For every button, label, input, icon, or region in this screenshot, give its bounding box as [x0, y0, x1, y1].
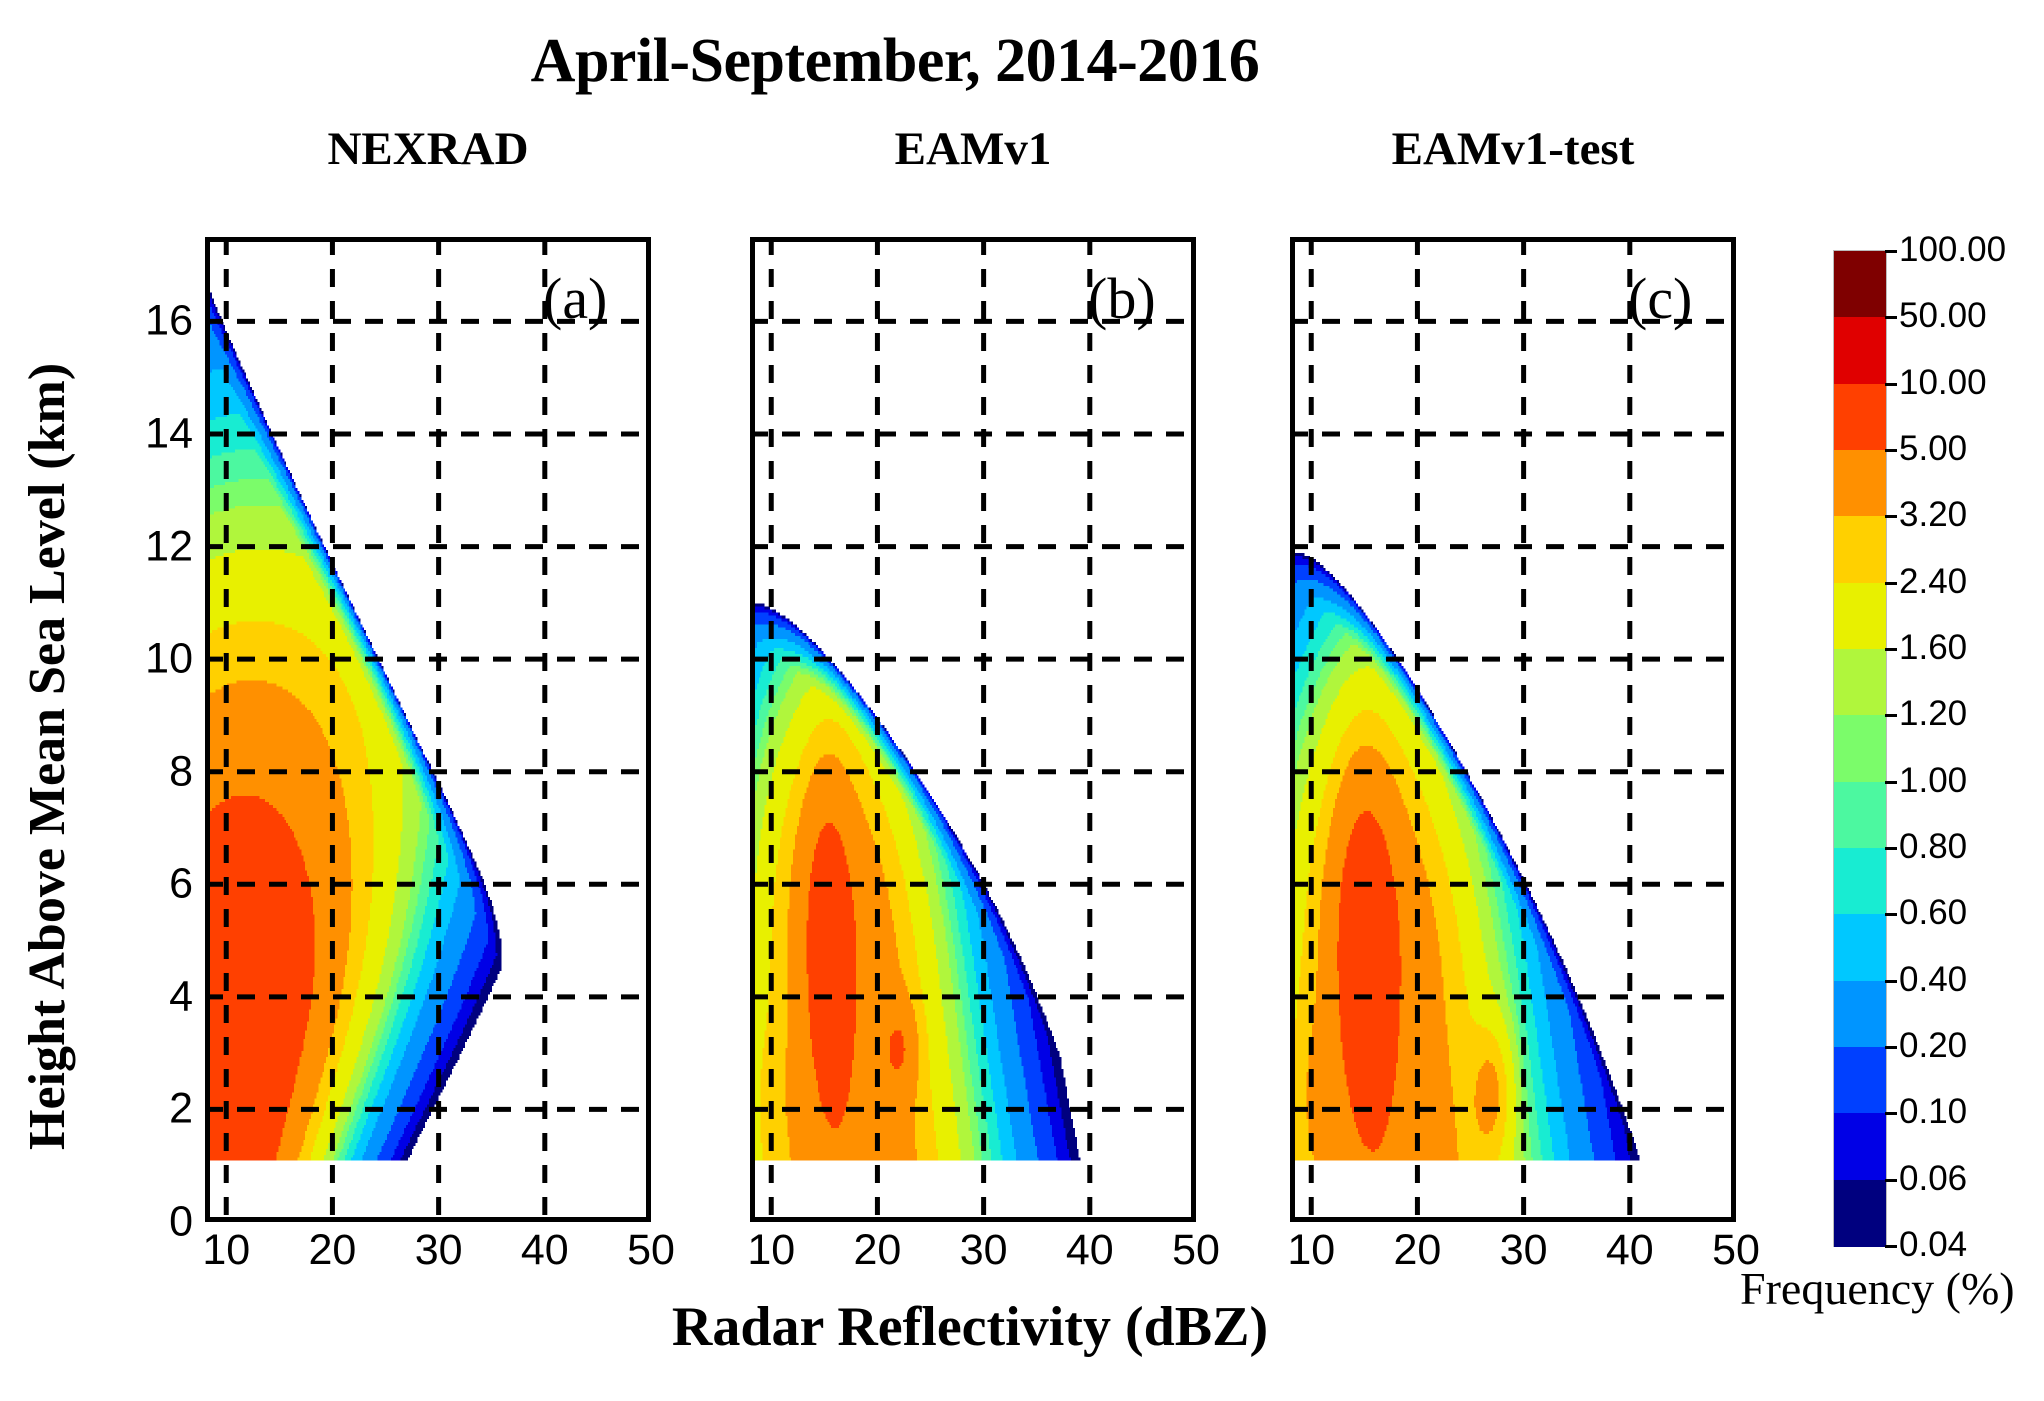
colorbar-segment	[1834, 715, 1886, 782]
colorbar-tick	[1885, 1046, 1897, 1049]
colorbar-tick-label: 0.06	[1899, 1159, 1967, 1199]
colorbar-segment	[1834, 583, 1886, 650]
colorbar-tick-label: 0.20	[1899, 1026, 1967, 1066]
colorbar-segment	[1834, 649, 1886, 716]
x-tick-label: 10	[747, 1226, 795, 1275]
colorbar-tick	[1885, 316, 1897, 319]
panel-id-1: (a)	[543, 265, 607, 332]
colorbar-tick-label: 0.40	[1899, 960, 1967, 1000]
x-tick-label: 20	[1394, 1226, 1442, 1275]
colorbar-tick	[1885, 582, 1897, 585]
colorbar-segment	[1834, 782, 1886, 849]
x-tick-label: 10	[202, 1226, 250, 1275]
colorbar-tick	[1885, 1112, 1897, 1115]
colorbar-tick-label: 100.00	[1899, 230, 2006, 270]
colorbar-tick-label: 3.20	[1899, 495, 1967, 535]
x-tick-label: 30	[960, 1226, 1008, 1275]
y-tick-label: 6	[103, 860, 193, 909]
colorbar-tick-label: 1.60	[1899, 628, 1967, 668]
colorbar-tick-label: 5.00	[1899, 429, 1967, 469]
x-tick-label: 50	[1172, 1226, 1220, 1275]
colorbar-tick	[1885, 250, 1897, 253]
y-tick-label: 16	[103, 297, 193, 346]
colorbar-gradient	[1833, 250, 1887, 1247]
panel-id-2: (b)	[1088, 265, 1156, 332]
y-tick-label: 2	[103, 1085, 193, 1134]
figure-title: April-September, 2014-2016	[0, 26, 1790, 97]
y-axis-label: Height Above Mean Sea Level (km)	[18, 363, 77, 1150]
y-tick-label: 0	[103, 1198, 193, 1247]
colorbar-segment	[1834, 251, 1886, 318]
colorbar-tick	[1885, 648, 1897, 651]
y-tick-label: 4	[103, 972, 193, 1021]
colorbar-tick	[1885, 449, 1897, 452]
colorbar-tick	[1885, 1245, 1897, 1248]
x-tick-label: 40	[1066, 1226, 1114, 1275]
colorbar-tick-label: 0.10	[1899, 1092, 1967, 1132]
colorbar-tick-label: 2.40	[1899, 562, 1967, 602]
colorbar-segment	[1834, 317, 1886, 384]
colorbar-tick-label: 1.00	[1899, 761, 1967, 801]
colorbar-segment	[1834, 384, 1886, 451]
colorbar-segment	[1834, 1047, 1886, 1114]
contour-plot-1	[210, 242, 646, 1217]
colorbar-tick	[1885, 714, 1897, 717]
colorbar-tick-label: 0.80	[1899, 827, 1967, 867]
colorbar-tick-label: 50.00	[1899, 296, 1987, 336]
x-axis-label: Radar Reflectivity (dBZ)	[205, 1295, 1735, 1359]
colorbar-tick	[1885, 1179, 1897, 1182]
y-tick-label: 8	[103, 747, 193, 796]
y-tick-label: 12	[103, 522, 193, 571]
colorbar-tick-label: 1.20	[1899, 694, 1967, 734]
colorbar-tick	[1885, 913, 1897, 916]
colorbar-segment	[1834, 1113, 1886, 1180]
contour-plot-3	[1295, 242, 1731, 1217]
x-tick-label: 10	[1287, 1226, 1335, 1275]
colorbar-tick	[1885, 781, 1897, 784]
colorbar-segment	[1834, 450, 1886, 517]
colorbar-segment	[1834, 516, 1886, 583]
panel-id-3: (c)	[1628, 265, 1692, 332]
colorbar-title: Frequency (%)	[1740, 1262, 2015, 1315]
colorbar-segment	[1834, 981, 1886, 1048]
x-tick-label: 50	[627, 1226, 675, 1275]
colorbar-segment	[1834, 1180, 1886, 1247]
x-tick-label: 30	[415, 1226, 463, 1275]
colorbar-segment	[1834, 848, 1886, 915]
panel-title-eamv1: EAMv1	[750, 122, 1196, 176]
x-tick-label: 30	[1500, 1226, 1548, 1275]
colorbar-tick	[1885, 515, 1897, 518]
x-tick-label: 40	[521, 1226, 569, 1275]
panel-title-eamv1-test: EAMv1-test	[1290, 122, 1736, 176]
y-tick-label: 14	[103, 410, 193, 459]
y-tick-label: 10	[103, 635, 193, 684]
panel-title-nexrad: NEXRAD	[205, 122, 651, 176]
colorbar-tick-label: 10.00	[1899, 363, 1987, 403]
colorbar-tick	[1885, 980, 1897, 983]
colorbar-tick	[1885, 847, 1897, 850]
colorbar-tick-label: 0.04	[1899, 1225, 1967, 1265]
colorbar-segment	[1834, 914, 1886, 981]
x-tick-label: 20	[309, 1226, 357, 1275]
colorbar-tick-label: 0.60	[1899, 893, 1967, 933]
contour-plot-2	[755, 242, 1191, 1217]
x-tick-label: 40	[1606, 1226, 1654, 1275]
colorbar-tick	[1885, 383, 1897, 386]
x-tick-label: 20	[854, 1226, 902, 1275]
